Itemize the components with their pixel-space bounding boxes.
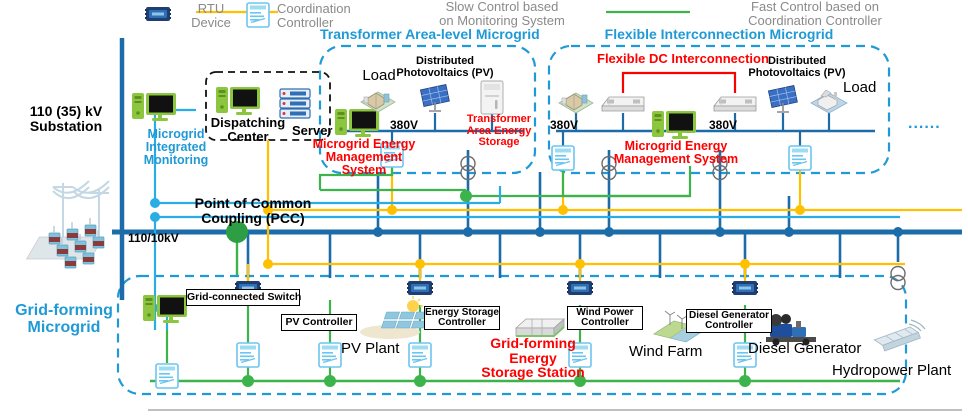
flexible-bus-voltage-left-label: 380V [550,119,578,132]
pv-plant-icon [360,296,430,339]
substation-icon [27,181,109,268]
transformer-mems-label: Microgrid Energy Management System [310,138,418,177]
flex-mems-workstation-icon [652,111,696,139]
hydropower-plant-icon [874,320,925,353]
flexible-dc-link [623,73,735,93]
rtu-device-icon [407,281,433,295]
gf-monitoring-workstation-icon [143,295,187,323]
transformer-pv-label: Distributed Photovoltaics (PV) [390,56,500,79]
legend-cc-icon [247,3,269,27]
server-label: Server [292,124,332,138]
legend-fast-control-label: Fast Control based on Coordination Contr… [690,0,940,27]
pv-controller-box: PV Controller [281,314,357,331]
flex-load-building-icon [559,93,593,113]
transformer-bus-voltage-label: 380V [390,119,418,132]
server-icon [280,89,310,118]
flexible-bus-voltage-right-label: 380V [709,119,737,132]
grid-connected-switch-box: Grid-connected Switch [186,289,300,306]
voltage-level-label: 110/10kV [128,232,179,245]
pcc-label: Point of Common Coupling (PCC) [178,196,328,225]
legend-slow-control-label: Slow Control based on Monitoring System [382,0,622,27]
grid-forming-storage-label: Grid-forming Energy Storage Station [459,336,607,380]
coordination-controller-icon [789,146,811,170]
flexible-load-label: Load [843,80,876,96]
grid-forming-storage-icon [516,319,564,336]
diesel-generator-label: Diesel Generator [748,341,861,357]
transformer-mems-workstation-icon [335,109,379,137]
slow-control-node-group [263,205,805,269]
rtu-device-icon [732,281,758,295]
gf-coordination-controller-icon [237,343,259,367]
substation-label: 110 (35) kV Substation [10,104,122,133]
diagram-canvas: RTU Device Coordination Controller Slow … [0,0,968,418]
dispatching-center-label: Dispatching Center [204,116,292,143]
coordination-controller-icon [552,146,574,170]
region-title-transformer-microgrid: Transformer Area-level Microgrid [320,27,535,42]
fast-control-node [460,190,472,202]
wind-power-controller-box: Wind Power Controller [567,306,643,330]
gf-coordination-controller-icon [409,343,431,367]
pv-panel-icon [420,84,449,111]
flex-pv-panel-icon [768,85,797,112]
region-title-grid-forming-microgrid: Grid-forming Microgrid [8,303,120,337]
dc-converter-left-icon [602,97,644,111]
gf-coordination-controller-icon [156,364,178,388]
flex-load-factory-icon [811,90,847,113]
more-microgrids-ellipsis: ...... [908,116,941,133]
legend-rtu-icon [145,7,171,21]
rtu-device-icon [567,281,593,295]
energy-storage-controller-box: Energy Storage Controller [424,306,500,330]
flexible-pv-label: Distributed Photovoltaics (PV) [742,56,852,79]
wind-farm-label: Wind Farm [629,344,702,360]
hydropower-plant-label: Hydropower Plant [832,363,951,379]
legend-rtu-label: RTU Device [176,2,246,29]
dispatching-center-workstation-icon [216,87,260,115]
diesel-generator-controller-box: Diesel Generator Controller [686,309,772,333]
region-title-flexible-microgrid: Flexible Interconnection Microgrid [569,27,869,42]
flexible-mems-label: Microgrid Energy Management System [596,140,756,166]
dc-converter-right-icon [714,97,756,111]
transformer-area-energy-storage-label: Transformer Area Energy Storage [466,114,532,149]
gf-coordination-controller-icon [319,343,341,367]
transformer-area-energy-storage-icon [481,81,503,114]
pv-plant-label: PV Plant [341,341,399,357]
